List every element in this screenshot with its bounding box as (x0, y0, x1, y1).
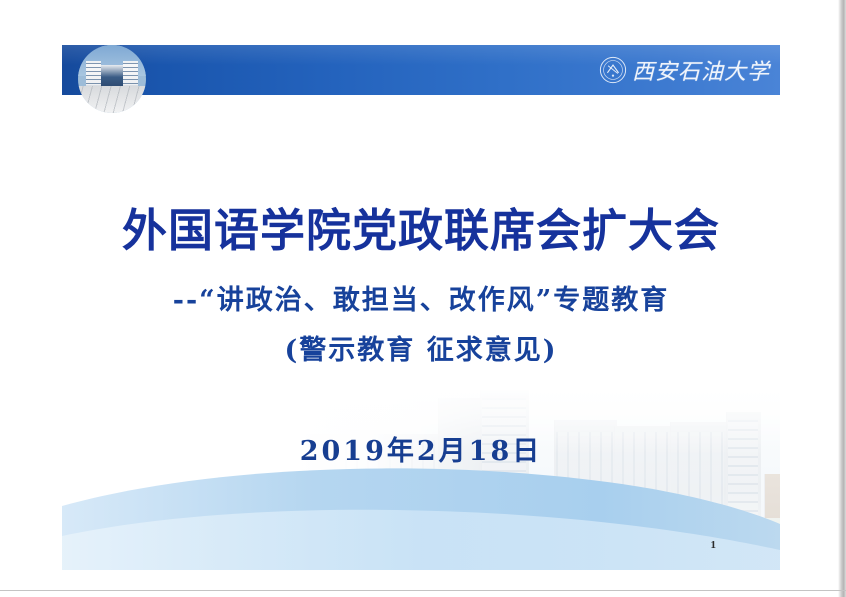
subtitle-line-1: --“讲政治、敢担当、改作风”专题教育 (62, 287, 780, 314)
slide-date: 2019年2月18日 (62, 438, 780, 465)
subtitle-line-2: (警示教育 征求意见) (62, 337, 780, 364)
slide-title-block: 外国语学院党政联席会扩大会 --“讲政治、敢担当、改作风”专题教育 (警示教育 … (62, 45, 780, 570)
viewer-bottom-edge (0, 590, 846, 591)
viewer-right-edge (838, 0, 846, 597)
slide-viewer: 西安石油大学 外国语学院党政联席会扩大会 --“讲政治、敢担当、改作风”专题教育… (0, 0, 846, 597)
slide-number: 1 (711, 539, 717, 551)
presentation-slide: 西安石油大学 外国语学院党政联席会扩大会 --“讲政治、敢担当、改作风”专题教育… (62, 45, 780, 570)
page-title: 外国语学院党政联席会扩大会 (62, 208, 780, 253)
